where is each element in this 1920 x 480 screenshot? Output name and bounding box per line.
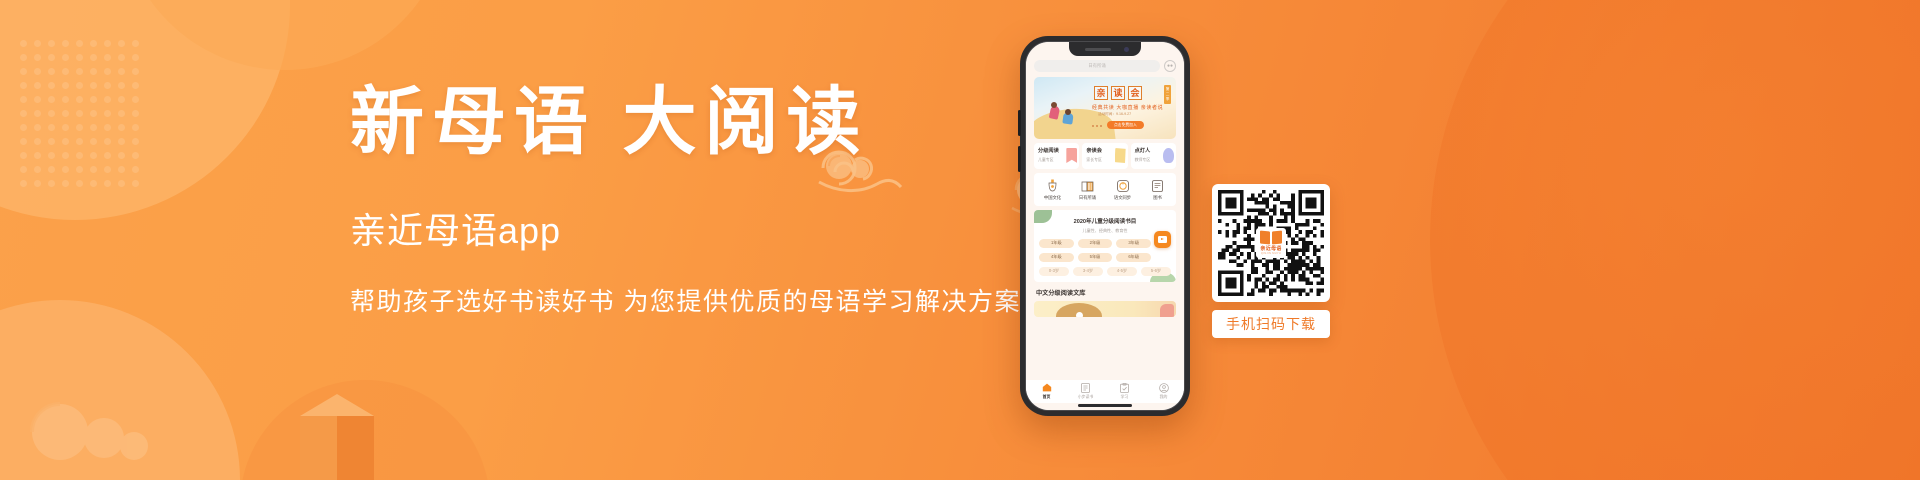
promo-banner: 新母语 大阅读 亲近母语app 帮助孩子选好书读好书 为您提供优质的母语学习解决… <box>0 0 1920 480</box>
hero-date: 活动时间：9.16-9.27 <box>1098 112 1131 117</box>
book-icon <box>1140 179 1175 192</box>
brand-logo-en: QINJIN MUYU <box>1261 252 1281 255</box>
circle-arrow-icon <box>1105 179 1140 192</box>
quick-nav-item-recite[interactable]: 日有所诵 <box>1070 179 1105 201</box>
phone-notch <box>1069 42 1141 56</box>
download-button[interactable]: 手机扫码下载 <box>1212 310 1330 338</box>
tab-study[interactable]: 学习 <box>1105 383 1144 401</box>
tab-label: 小步读书 <box>1066 394 1105 400</box>
message-icon[interactable]: ●● <box>1164 60 1176 72</box>
phone-mockup: 日有所诵 ●● 亲 读 会 第二季 经典共读 大咖直播 亲读者说 活动时间：9.… <box>1020 36 1190 416</box>
tab-label: 首页 <box>1027 394 1066 400</box>
grade-chip-row-2: 4年级 5年级 6年级 <box>1039 253 1171 262</box>
cube-decoration <box>300 394 374 480</box>
quick-nav-label: 语文同步 <box>1105 195 1140 201</box>
user-icon <box>1144 383 1183 393</box>
dot-grid-decoration <box>20 40 150 190</box>
phone-frame: 日有所诵 ●● 亲 读 会 第二季 经典共读 大咖直播 亲读者说 活动时间：9.… <box>1025 41 1185 411</box>
hero-title: 亲 读 会 <box>1094 86 1142 100</box>
home-indicator <box>1078 404 1132 407</box>
tab-profile[interactable]: 我的 <box>1144 383 1183 401</box>
tab-label: 学习 <box>1105 394 1144 400</box>
grade-booklist-block: 2020年儿童分级阅读书目 儿童性、经典性、教育性 1年级 2年级 3年级 4年… <box>1034 210 1176 282</box>
bg-blob-right <box>1430 0 1920 480</box>
banner-copy: 新母语 大阅读 亲近母语app 帮助孩子选好书读好书 为您提供优质的母语学习解决… <box>350 86 1010 318</box>
hero-title-char: 亲 <box>1094 86 1108 100</box>
hero-tag: 第二季 <box>1164 85 1171 104</box>
age-chip[interactable]: 0-3岁 <box>1039 267 1069 276</box>
cloud-decoration-3 <box>20 372 170 472</box>
quick-nav-item-books[interactable]: 图书 <box>1140 179 1175 201</box>
grade-chip[interactable]: 4年级 <box>1039 253 1074 262</box>
quick-nav-item-culture[interactable]: 中国文化 <box>1035 179 1070 201</box>
tab-reading[interactable]: 小步读书 <box>1066 383 1105 401</box>
grade-chip[interactable]: 3年级 <box>1116 239 1151 248</box>
library-title: 中文分级阅读文库 <box>1036 288 1174 297</box>
app-name: 亲近母语app <box>350 202 1010 254</box>
search-input[interactable]: 日有所诵 <box>1034 60 1160 72</box>
hero-join-button[interactable]: 点击免费加入 <box>1107 121 1144 129</box>
hero-title-char: 会 <box>1128 86 1142 100</box>
carousel-dots[interactable] <box>1092 125 1102 127</box>
quick-nav-item-sync[interactable]: 语文同步 <box>1105 179 1140 201</box>
vase-icon <box>1035 179 1070 192</box>
hero-title-char: 读 <box>1111 86 1125 100</box>
category-cards: 分级阅读 儿童专区 亲读会 家长专区 点灯人 教师专区 <box>1034 143 1176 169</box>
category-card[interactable]: 亲读会 家长专区 <box>1082 143 1127 169</box>
lamp-icon <box>1163 148 1174 163</box>
booklist-subtitle: 儿童性、经典性、教育性 <box>1039 228 1171 234</box>
grade-chip[interactable]: 5年级 <box>1078 253 1113 262</box>
banner-description: 帮助孩子选好书读好书 为您提供优质的母语学习解决方案 <box>350 282 1010 318</box>
open-book-icon <box>1070 179 1105 192</box>
age-chip-row: 0-3岁 3-4岁 4-5岁 5-6岁 <box>1039 267 1171 276</box>
brand-logo: 亲近母语 QINJIN MUYU <box>1256 228 1286 258</box>
brand-logo-cn: 亲近母语 <box>1260 245 1281 252</box>
app-search-row: 日有所诵 ●● <box>1032 60 1178 72</box>
app-screen: 日有所诵 ●● 亲 读 会 第二季 经典共读 大咖直播 亲读者说 活动时间：9.… <box>1026 42 1184 410</box>
grade-chip-row-1: 1年级 2年级 3年级 <box>1039 239 1171 248</box>
video-play-icon[interactable] <box>1154 231 1171 248</box>
quick-nav-label: 图书 <box>1140 195 1175 201</box>
bottom-tab-bar: 首页 小步读书 <box>1026 380 1184 404</box>
hero-subtitle: 经典共读 大咖直播 亲读者说 <box>1092 104 1163 111</box>
quick-nav-label: 日有所诵 <box>1070 195 1105 201</box>
tab-home[interactable]: 首页 <box>1027 383 1066 401</box>
booklist-title: 2020年儿童分级阅读书目 <box>1039 217 1171 225</box>
age-chip[interactable]: 5-6岁 <box>1141 267 1171 276</box>
grade-chip[interactable]: 1年级 <box>1039 239 1074 248</box>
page-icon <box>1115 148 1126 163</box>
page-title: 新母语 大阅读 <box>350 86 1010 160</box>
library-card[interactable] <box>1034 301 1176 317</box>
qr-code: 亲近母语 QINJIN MUYU <box>1212 184 1330 302</box>
quick-nav-label: 中国文化 <box>1035 195 1070 201</box>
category-card[interactable]: 分级阅读 儿童专区 <box>1034 143 1079 169</box>
tab-label: 我的 <box>1144 394 1183 400</box>
hero-banner[interactable]: 亲 读 会 第二季 经典共读 大咖直播 亲读者说 活动时间：9.16-9.27 … <box>1034 77 1176 139</box>
age-chip[interactable]: 4-5岁 <box>1107 267 1137 276</box>
grade-chip[interactable]: 2年级 <box>1078 239 1113 248</box>
category-card[interactable]: 点灯人 教师专区 <box>1131 143 1176 169</box>
list-icon <box>1066 383 1105 393</box>
quick-nav-row: 中国文化 日有所诵 <box>1034 173 1176 206</box>
age-chip[interactable]: 3-4岁 <box>1073 267 1103 276</box>
grade-chip[interactable]: 6年级 <box>1116 253 1151 262</box>
home-icon <box>1027 383 1066 393</box>
check-clipboard-icon <box>1105 383 1144 393</box>
